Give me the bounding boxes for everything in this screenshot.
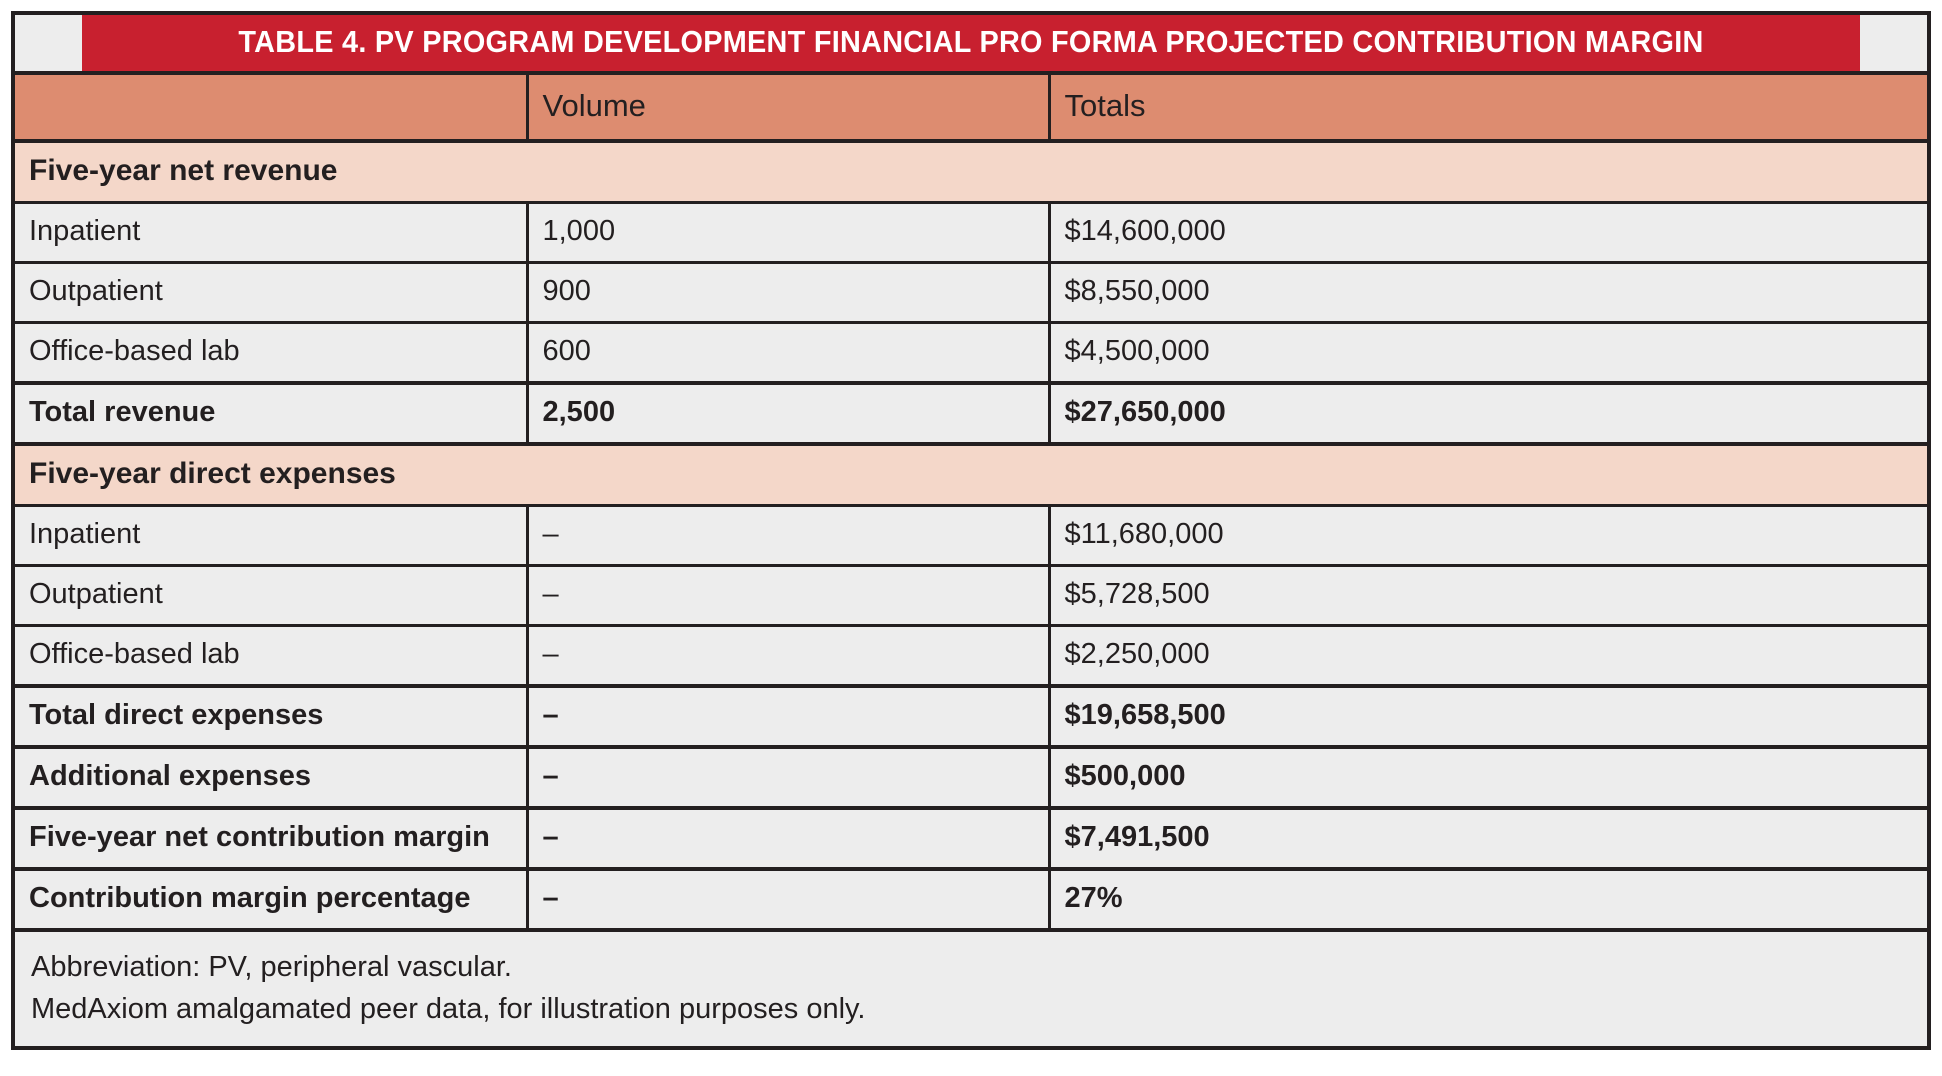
cell-totals: $11,680,000 [1049, 506, 1927, 566]
column-header-row-label [15, 73, 527, 141]
table-row: Office-based lab600$4,500,000 [15, 323, 1927, 384]
table-row: Office-based lab–$2,250,000 [15, 626, 1927, 687]
row-label: Additional expenses [15, 747, 527, 808]
cell-totals: $5,728,500 [1049, 566, 1927, 626]
section-header-row: Five-year direct expenses [15, 444, 1927, 506]
total-row: Additional expenses–$500,000 [15, 747, 1927, 808]
footnote-line: MedAxiom amalgamated peer data, for illu… [31, 988, 1913, 1030]
column-header-volume: Volume [527, 73, 1049, 141]
section-header-row: Five-year net revenue [15, 141, 1927, 203]
row-label: Total revenue [15, 383, 527, 444]
table-title: TABLE 4. PV PROGRAM DEVELOPMENT FINANCIA… [82, 15, 1860, 73]
financial-pro-forma-table-container: TABLE 4. PV PROGRAM DEVELOPMENT FINANCIA… [11, 11, 1931, 1050]
row-label: Office-based lab [15, 323, 527, 384]
row-label: Total direct expenses [15, 686, 527, 747]
cell-volume: – [527, 686, 1049, 747]
financial-pro-forma-table: TABLE 4. PV PROGRAM DEVELOPMENT FINANCIA… [15, 15, 1927, 1046]
section-header-label: Five-year net revenue [15, 141, 1927, 203]
column-header-row: VolumeTotals [15, 73, 1927, 141]
table-row: Outpatient–$5,728,500 [15, 566, 1927, 626]
cell-volume: 600 [527, 323, 1049, 384]
total-row: Contribution margin percentage–27% [15, 869, 1927, 930]
cell-volume: – [527, 626, 1049, 687]
row-label: Outpatient [15, 566, 527, 626]
cell-volume: – [527, 506, 1049, 566]
table-row: Inpatient–$11,680,000 [15, 506, 1927, 566]
row-label: Outpatient [15, 263, 527, 323]
table-footnote-row: Abbreviation: PV, peripheral vascular.Me… [15, 930, 1927, 1046]
total-row: Total revenue2,500$27,650,000 [15, 383, 1927, 444]
cell-volume: 1,000 [527, 203, 1049, 263]
row-label: Inpatient [15, 506, 527, 566]
row-label: Office-based lab [15, 626, 527, 687]
cell-volume: 2,500 [527, 383, 1049, 444]
cell-totals: $7,491,500 [1049, 808, 1927, 869]
cell-totals: $2,250,000 [1049, 626, 1927, 687]
cell-totals: $500,000 [1049, 747, 1927, 808]
row-label: Contribution margin percentage [15, 869, 527, 930]
cell-totals: $4,500,000 [1049, 323, 1927, 384]
cell-totals: $14,600,000 [1049, 203, 1927, 263]
total-row: Five-year net contribution margin–$7,491… [15, 808, 1927, 869]
cell-totals: $19,658,500 [1049, 686, 1927, 747]
table-footnotes: Abbreviation: PV, peripheral vascular.Me… [15, 930, 1927, 1046]
section-header-label: Five-year direct expenses [15, 444, 1927, 506]
total-row: Total direct expenses–$19,658,500 [15, 686, 1927, 747]
cell-totals: 27% [1049, 869, 1927, 930]
table-title-row: TABLE 4. PV PROGRAM DEVELOPMENT FINANCIA… [15, 15, 1927, 73]
cell-totals: $27,650,000 [1049, 383, 1927, 444]
cell-totals: $8,550,000 [1049, 263, 1927, 323]
column-header-totals: Totals [1049, 73, 1927, 141]
footnote-line: Abbreviation: PV, peripheral vascular. [31, 946, 1913, 988]
row-label: Five-year net contribution margin [15, 808, 527, 869]
row-label: Inpatient [15, 203, 527, 263]
cell-volume: – [527, 566, 1049, 626]
cell-volume: 900 [527, 263, 1049, 323]
table-row: Inpatient1,000$14,600,000 [15, 203, 1927, 263]
table-row: Outpatient900$8,550,000 [15, 263, 1927, 323]
cell-volume: – [527, 808, 1049, 869]
cell-volume: – [527, 747, 1049, 808]
cell-volume: – [527, 869, 1049, 930]
